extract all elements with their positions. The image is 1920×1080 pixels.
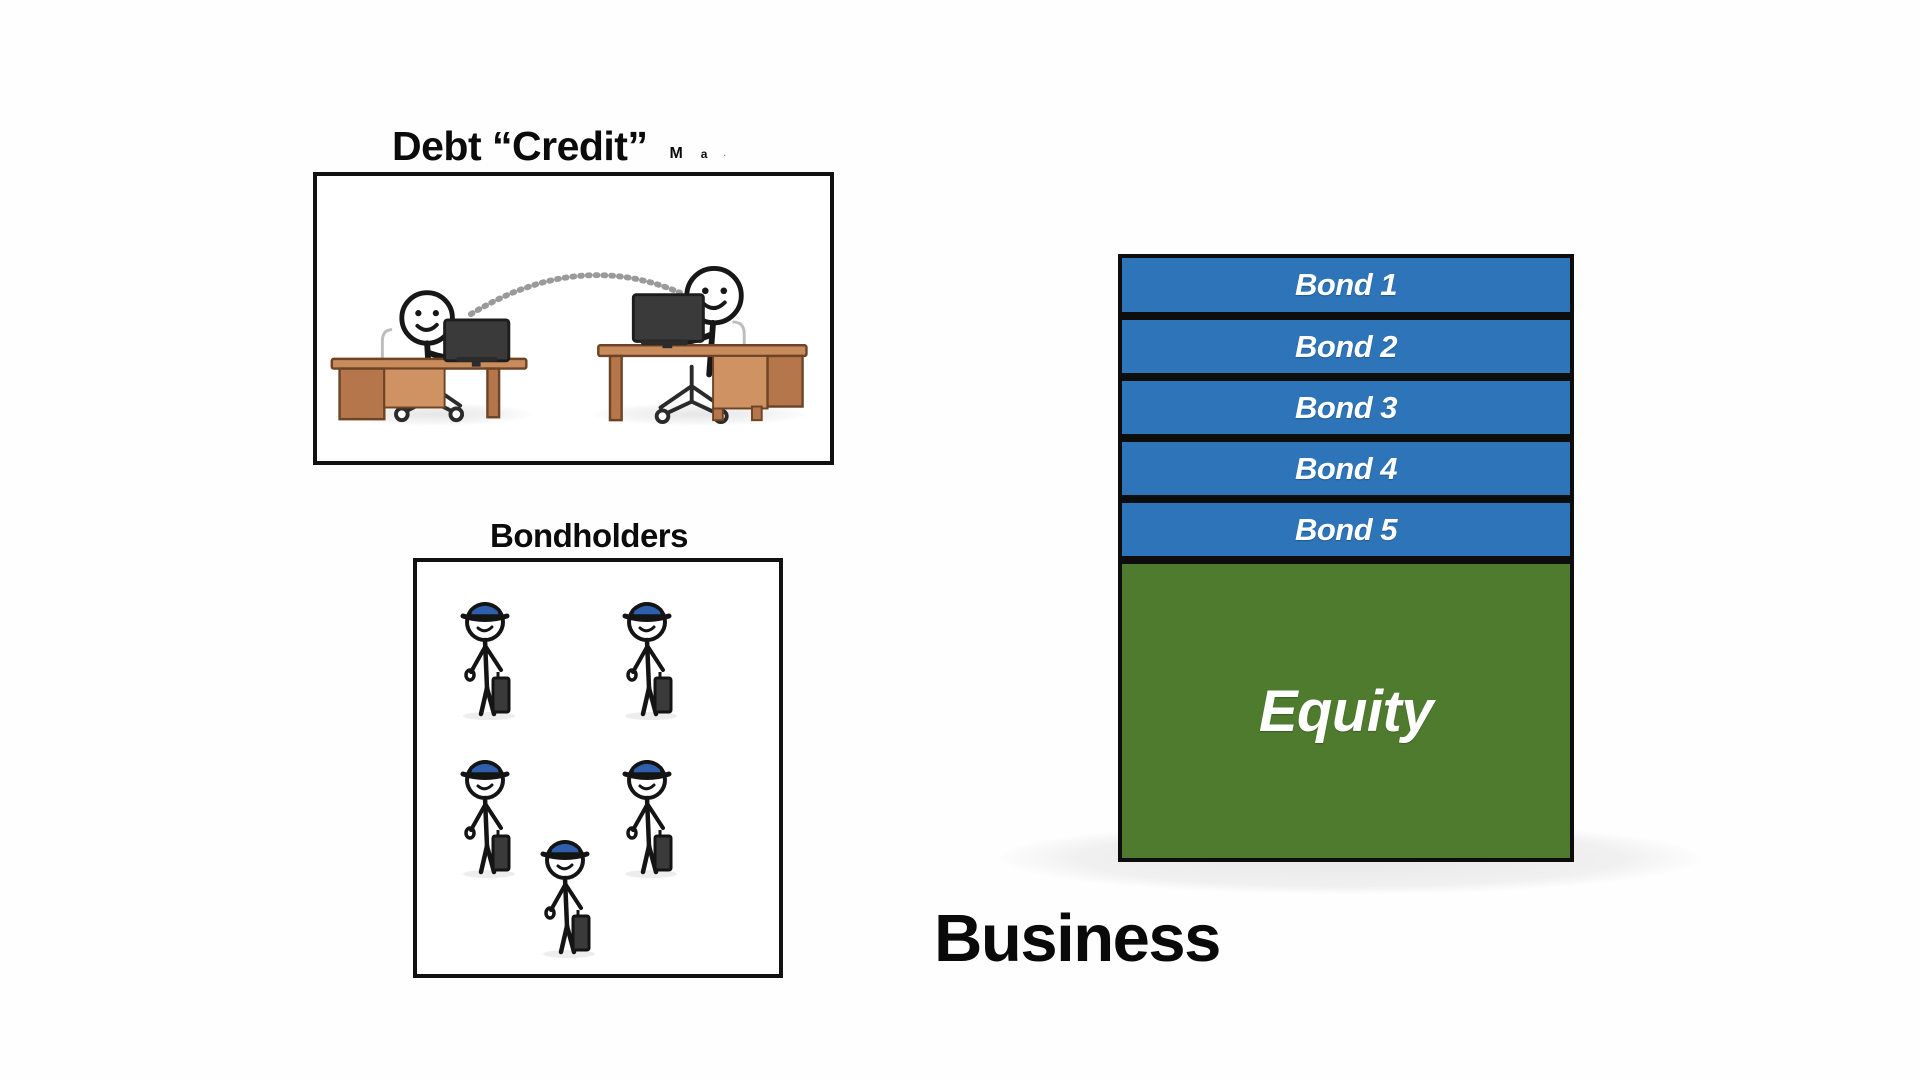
stack-layer-bond-3[interactable]: Bond 3 xyxy=(1118,377,1574,438)
monitor-left-base xyxy=(456,357,497,362)
bondholder-icon xyxy=(611,592,695,722)
desk-right-foot-2 xyxy=(752,407,762,421)
monitor-left-screen-icon xyxy=(445,320,509,361)
figure-hand-left xyxy=(466,670,474,680)
figure-arm-left xyxy=(633,805,647,830)
stack-layer-label: Bond 2 xyxy=(1295,329,1397,365)
monitor-right-screen-icon xyxy=(633,295,703,342)
bondholder-figure xyxy=(449,592,533,722)
stack-layer-label: Equity xyxy=(1259,678,1433,745)
stack-layer-equity[interactable]: Equity xyxy=(1118,560,1574,862)
debt-credit-title-tail: Ma· xyxy=(647,145,726,162)
stack-layer-label: Bond 4 xyxy=(1295,451,1397,487)
monitor-right-base xyxy=(641,339,688,345)
stack-layer-label: Bond 1 xyxy=(1295,267,1397,303)
fedora-hat-icon xyxy=(549,842,581,854)
fedora-hat-icon xyxy=(469,762,501,774)
title-tail-glyph-3: · xyxy=(723,151,726,160)
bondholders-title: Bondholders xyxy=(490,516,688,556)
desk-right-foot-1 xyxy=(713,408,723,420)
stack-layer-bond-2[interactable]: Bond 2 xyxy=(1118,316,1574,377)
stack-layer-label: Bond 5 xyxy=(1295,512,1397,548)
fedora-hat-icon xyxy=(631,604,663,616)
desk-left-pedestal xyxy=(340,369,385,420)
title-tail-glyph-2: a xyxy=(701,147,708,161)
desk-right-leg xyxy=(610,356,622,420)
fedora-hat-icon xyxy=(469,604,501,616)
desk-right-panel xyxy=(713,356,767,409)
trader-right-group xyxy=(598,268,806,422)
figure-hand-left xyxy=(466,828,474,838)
fedora-hat-icon xyxy=(631,762,663,774)
capital-stack: Bond 1 Bond 2 Bond 3 Bond 4 Bond 5 Equit… xyxy=(1118,254,1574,862)
trader-left-group xyxy=(332,293,527,420)
business-caption: Business xyxy=(0,900,1920,977)
trader-left-eye-1 xyxy=(415,310,421,316)
stack-layer-label: Bond 3 xyxy=(1295,390,1397,426)
stack-layer-bond-4[interactable]: Bond 4 xyxy=(1118,438,1574,499)
desk-right-top xyxy=(598,345,806,356)
stack-layer-bond-5[interactable]: Bond 5 xyxy=(1118,499,1574,560)
desk-right-pedestal xyxy=(768,356,803,407)
chair-wheel-left-2 xyxy=(450,408,462,420)
trader-right-eye-2 xyxy=(720,287,727,294)
figure-arm-left xyxy=(471,805,485,830)
chair-wheel-right-1 xyxy=(657,410,669,422)
debt-credit-title-main: Debt “Credit” xyxy=(392,123,647,169)
trader-left-eye-2 xyxy=(433,310,439,316)
stack-layer-bond-1[interactable]: Bond 1 xyxy=(1118,254,1574,316)
bondholder-figure xyxy=(611,592,695,722)
briefcase-icon xyxy=(493,836,509,870)
figure-hand-left xyxy=(628,670,636,680)
trader-right-eye-1 xyxy=(702,287,709,294)
business-caption-text: Business xyxy=(934,900,1220,977)
briefcase-icon xyxy=(493,678,509,712)
figure-arm-left xyxy=(633,647,647,672)
figure-arm-left xyxy=(471,647,485,672)
figure-hand-left xyxy=(628,828,636,838)
two-traders-at-desks-illustration xyxy=(317,176,830,461)
desk-left-leg xyxy=(487,369,499,418)
chair-wheel-left-1 xyxy=(396,408,408,420)
briefcase-icon xyxy=(655,678,671,712)
desk-left-panel xyxy=(384,369,444,408)
bondholder-icon xyxy=(611,750,695,880)
briefcase-icon xyxy=(655,836,671,870)
title-tail-glyph-1: M xyxy=(669,145,682,162)
bondholder-icon xyxy=(449,592,533,722)
bondholder-icon xyxy=(449,750,533,880)
bondholder-figure xyxy=(449,750,533,880)
bondholder-figure xyxy=(611,750,695,880)
debt-credit-scene-box xyxy=(313,172,834,465)
